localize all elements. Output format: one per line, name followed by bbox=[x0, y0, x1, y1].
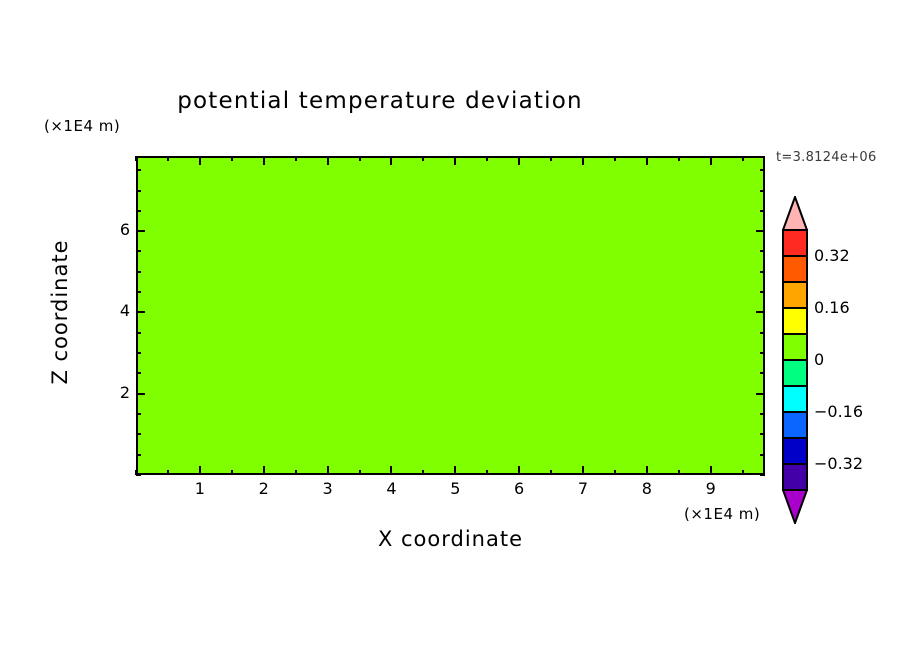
x-tick-major bbox=[199, 466, 201, 475]
contour-plot-area bbox=[136, 156, 765, 475]
y-tick-minor-right bbox=[760, 474, 765, 476]
timestamp-label: t=3.8124e+06 bbox=[776, 150, 877, 165]
y-tick-minor bbox=[136, 454, 141, 456]
x-tick-minor bbox=[422, 470, 424, 475]
x-tick-major bbox=[518, 466, 520, 475]
x-tick-minor bbox=[742, 470, 744, 475]
x-tick-label: 2 bbox=[249, 479, 279, 498]
x-tick-minor-top bbox=[486, 156, 488, 161]
colorbar bbox=[782, 196, 808, 524]
x-tick-minor-top bbox=[614, 156, 616, 161]
x-tick-label: 3 bbox=[313, 479, 343, 498]
y-tick-minor-right bbox=[760, 372, 765, 374]
y-tick-minor bbox=[136, 332, 141, 334]
x-tick-minor-top bbox=[550, 156, 552, 161]
x-tick-minor bbox=[295, 470, 297, 475]
x-axis-unit-label: (×1E4 m) bbox=[684, 505, 760, 523]
y-tick-major-right bbox=[756, 393, 765, 395]
x-tick-minor bbox=[231, 470, 233, 475]
y-tick-minor-right bbox=[760, 332, 765, 334]
y-tick-minor-right bbox=[760, 250, 765, 252]
y-tick-label: 4 bbox=[100, 301, 130, 320]
colorbar-band bbox=[783, 386, 807, 412]
colorbar-over-cap bbox=[783, 197, 807, 230]
x-tick-minor-top bbox=[359, 156, 361, 161]
x-tick-major bbox=[582, 466, 584, 475]
x-tick-minor-top bbox=[167, 156, 169, 161]
x-tick-minor bbox=[614, 470, 616, 475]
colorbar-band bbox=[783, 334, 807, 360]
x-tick-minor-top bbox=[231, 156, 233, 161]
x-tick-label: 9 bbox=[696, 479, 726, 498]
y-tick-minor-right bbox=[760, 352, 765, 354]
x-tick-major-top bbox=[646, 156, 648, 165]
y-tick-minor bbox=[136, 413, 141, 415]
x-tick-minor-top bbox=[678, 156, 680, 161]
x-tick-label: 4 bbox=[376, 479, 406, 498]
y-tick-minor bbox=[136, 250, 141, 252]
colorbar-band bbox=[783, 464, 807, 490]
y-tick-minor-right bbox=[760, 210, 765, 212]
y-tick-minor bbox=[136, 433, 141, 435]
y-tick-minor bbox=[136, 169, 141, 171]
colorbar-tick-label: 0.32 bbox=[814, 246, 850, 265]
y-tick-minor-right bbox=[760, 190, 765, 192]
x-tick-minor bbox=[550, 470, 552, 475]
y-axis-title: Z coordinate bbox=[48, 217, 72, 407]
figure-root: potential temperature deviation (×1E4 m)… bbox=[0, 0, 904, 654]
x-tick-label: 5 bbox=[440, 479, 470, 498]
colorbar-under-cap bbox=[783, 490, 807, 523]
y-tick-minor-right bbox=[760, 433, 765, 435]
x-tick-major-top bbox=[710, 156, 712, 165]
colorbar-band bbox=[783, 412, 807, 438]
x-tick-major-top bbox=[199, 156, 201, 165]
x-tick-major-top bbox=[390, 156, 392, 165]
colorbar-band bbox=[783, 360, 807, 386]
x-tick-major bbox=[390, 466, 392, 475]
x-tick-label: 7 bbox=[568, 479, 598, 498]
x-tick-minor bbox=[678, 470, 680, 475]
colorbar-tick-label: 0 bbox=[814, 350, 824, 369]
y-tick-minor bbox=[136, 271, 141, 273]
colorbar-band bbox=[783, 230, 807, 256]
y-tick-minor-right bbox=[760, 291, 765, 293]
y-tick-minor bbox=[136, 372, 141, 374]
x-tick-major-top bbox=[327, 156, 329, 165]
y-tick-minor-right bbox=[760, 169, 765, 171]
colorbar-tick-label: −0.16 bbox=[814, 402, 863, 421]
colorbar-gradient bbox=[782, 196, 808, 524]
x-tick-minor-top bbox=[422, 156, 424, 161]
colorbar-tick-label: 0.16 bbox=[814, 298, 850, 317]
y-tick-major-right bbox=[756, 311, 765, 313]
y-axis-tick-labels: 246 bbox=[96, 156, 130, 475]
y-tick-major bbox=[136, 230, 145, 232]
colorbar-band bbox=[783, 282, 807, 308]
colorbar-band bbox=[783, 438, 807, 464]
contour-field-canvas bbox=[138, 158, 763, 473]
x-tick-major-top bbox=[518, 156, 520, 165]
colorbar-tick-labels: 0.320.160−0.16−0.32 bbox=[814, 196, 884, 524]
x-tick-label: 6 bbox=[504, 479, 534, 498]
x-tick-minor bbox=[486, 470, 488, 475]
colorbar-band bbox=[783, 256, 807, 282]
y-tick-minor bbox=[136, 474, 141, 476]
page-title: potential temperature deviation bbox=[0, 88, 760, 114]
y-tick-major bbox=[136, 393, 145, 395]
x-tick-minor-top bbox=[295, 156, 297, 161]
y-tick-minor bbox=[136, 291, 141, 293]
x-tick-major bbox=[327, 466, 329, 475]
x-tick-major-top bbox=[582, 156, 584, 165]
y-tick-label: 6 bbox=[100, 220, 130, 239]
x-tick-major-top bbox=[263, 156, 265, 165]
y-tick-minor-right bbox=[760, 413, 765, 415]
x-tick-major bbox=[263, 466, 265, 475]
x-tick-minor-top bbox=[135, 156, 137, 161]
x-tick-major bbox=[454, 466, 456, 475]
x-tick-major bbox=[646, 466, 648, 475]
x-tick-minor bbox=[167, 470, 169, 475]
y-axis-unit-label: (×1E4 m) bbox=[44, 117, 120, 135]
y-tick-major bbox=[136, 311, 145, 313]
x-tick-minor bbox=[359, 470, 361, 475]
y-tick-minor bbox=[136, 352, 141, 354]
y-tick-minor-right bbox=[760, 454, 765, 456]
colorbar-band bbox=[783, 308, 807, 334]
x-axis-title: X coordinate bbox=[136, 527, 765, 551]
y-tick-label: 2 bbox=[100, 383, 130, 402]
x-tick-label: 1 bbox=[185, 479, 215, 498]
x-tick-major-top bbox=[454, 156, 456, 165]
y-tick-minor-right bbox=[760, 271, 765, 273]
x-tick-minor-top bbox=[742, 156, 744, 161]
y-tick-minor bbox=[136, 190, 141, 192]
x-tick-major bbox=[710, 466, 712, 475]
x-tick-label: 8 bbox=[632, 479, 662, 498]
colorbar-tick-label: −0.32 bbox=[814, 454, 863, 473]
y-tick-major-right bbox=[756, 230, 765, 232]
y-tick-minor bbox=[136, 210, 141, 212]
